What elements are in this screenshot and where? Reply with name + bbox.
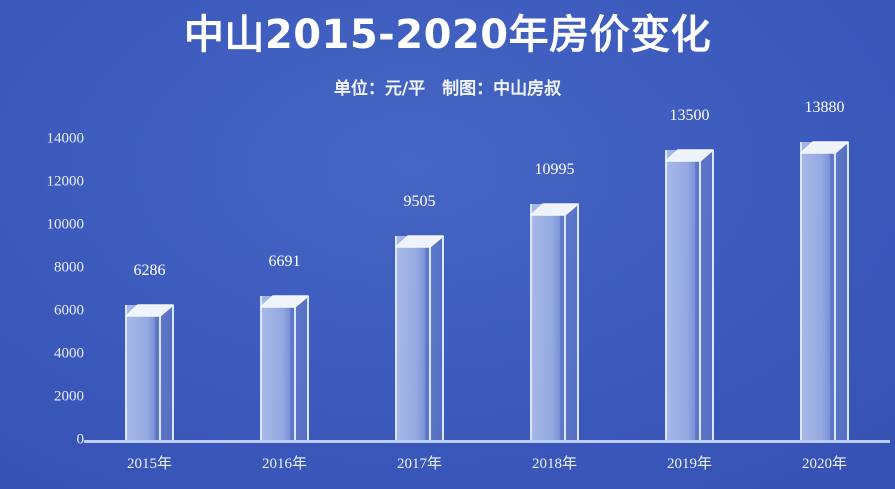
bar-corner-edge bbox=[834, 142, 836, 440]
bar[interactable] bbox=[800, 131, 849, 440]
bar-top-face bbox=[800, 129, 849, 155]
bar-body bbox=[395, 236, 444, 440]
bar-top-face bbox=[125, 292, 174, 318]
bar-corner-edge bbox=[294, 296, 296, 440]
x-axis-tick-label: 2019年 bbox=[630, 452, 750, 473]
y-axis-tick-label: 0 bbox=[0, 432, 84, 449]
x-axis-tick-label: 2020年 bbox=[765, 452, 885, 473]
y-axis-tick-label: 12000 bbox=[0, 174, 84, 191]
y-axis-tick-label: 2000 bbox=[0, 389, 84, 406]
y-axis-tick-label: 4000 bbox=[0, 346, 84, 363]
y-axis-tick-label: 14000 bbox=[0, 131, 84, 148]
bar-top-face bbox=[530, 191, 579, 217]
x-axis-tick-label: 2018年 bbox=[495, 452, 615, 473]
y-axis-tick-label: 10000 bbox=[0, 217, 84, 234]
bar-body bbox=[260, 296, 309, 440]
bar-value-label: 10995 bbox=[490, 161, 620, 179]
x-axis-tick-label: 2015年 bbox=[90, 452, 210, 473]
bar-body bbox=[665, 150, 714, 440]
bar[interactable] bbox=[530, 193, 579, 440]
x-axis-tick-label: 2016年 bbox=[225, 452, 345, 473]
bar-value-label: 13500 bbox=[625, 107, 755, 125]
bar-value-label: 13880 bbox=[760, 99, 890, 117]
bar-top-face bbox=[395, 223, 444, 249]
y-axis-tick-label: 6000 bbox=[0, 303, 84, 320]
bar-body bbox=[800, 142, 849, 440]
y-axis: 02000400060008000100001200014000 bbox=[0, 0, 84, 489]
bar-top-face bbox=[260, 283, 309, 309]
bar-value-label: 6691 bbox=[220, 253, 350, 271]
bar[interactable] bbox=[395, 225, 444, 440]
x-axis-line bbox=[84, 440, 890, 443]
bar-corner-edge bbox=[429, 236, 431, 440]
bar[interactable] bbox=[665, 139, 714, 440]
bar-corner-edge bbox=[159, 305, 161, 440]
bar[interactable] bbox=[260, 285, 309, 440]
x-axis-tick-label: 2017年 bbox=[360, 452, 480, 473]
bar-body bbox=[530, 204, 579, 440]
bar-value-label: 9505 bbox=[355, 193, 485, 211]
bar-body bbox=[125, 305, 174, 440]
bar[interactable] bbox=[125, 294, 174, 440]
chart-canvas: 中山2015-2020年房价变化 单位：元/平 制图：中山房叔 02000400… bbox=[0, 0, 895, 489]
y-axis-tick-label: 8000 bbox=[0, 260, 84, 277]
bar-top-face bbox=[665, 137, 714, 163]
bar-corner-edge bbox=[699, 150, 701, 440]
bar-corner-edge bbox=[564, 204, 566, 440]
bar-value-label: 6286 bbox=[85, 262, 215, 280]
plot-area: 02000400060008000100001200014000 2015年20… bbox=[0, 0, 895, 489]
